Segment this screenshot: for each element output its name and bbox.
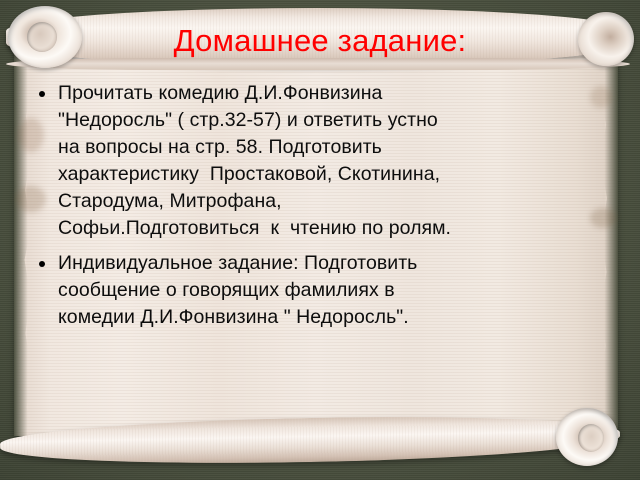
bullet-line: Софьи.Подготовиться к чтению по ролям. [58, 215, 618, 242]
list-item: Индивидуальное задание: Подготовить сооб… [26, 250, 618, 331]
bullet-line: Прочитать комедию Д.И.Фонвизина [58, 80, 618, 107]
page-title: Домашнее задание: [0, 22, 640, 60]
scroll-curl-bottom-right-hole [578, 424, 604, 452]
slide-canvas: Домашнее задание: Прочитать комедию Д.И.… [0, 0, 640, 480]
bullet-line: комедии Д.И.Фонвизина " Недоросль". [58, 304, 618, 331]
list-item: Прочитать комедию Д.И.Фонвизина "Недорос… [26, 80, 618, 242]
bullet-line: "Недоросль" ( стр.32-57) и ответить устн… [58, 107, 618, 134]
bullet-dot-icon [39, 91, 45, 97]
bullet-line: на вопросы на стр. 58. Подготовить [58, 134, 618, 161]
bullet-line: Индивидуальное задание: Подготовить [58, 250, 618, 277]
bullet-line: сообщение о говорящих фамилиях в [58, 277, 618, 304]
bullet-line: Стародума, Митрофана, [58, 188, 618, 215]
bullet-list: Прочитать комедию Д.И.Фонвизина "Недорос… [26, 80, 618, 339]
bullet-dot-icon [39, 261, 45, 267]
bullet-line: характеристику Простаковой, Скотинина, [58, 161, 618, 188]
